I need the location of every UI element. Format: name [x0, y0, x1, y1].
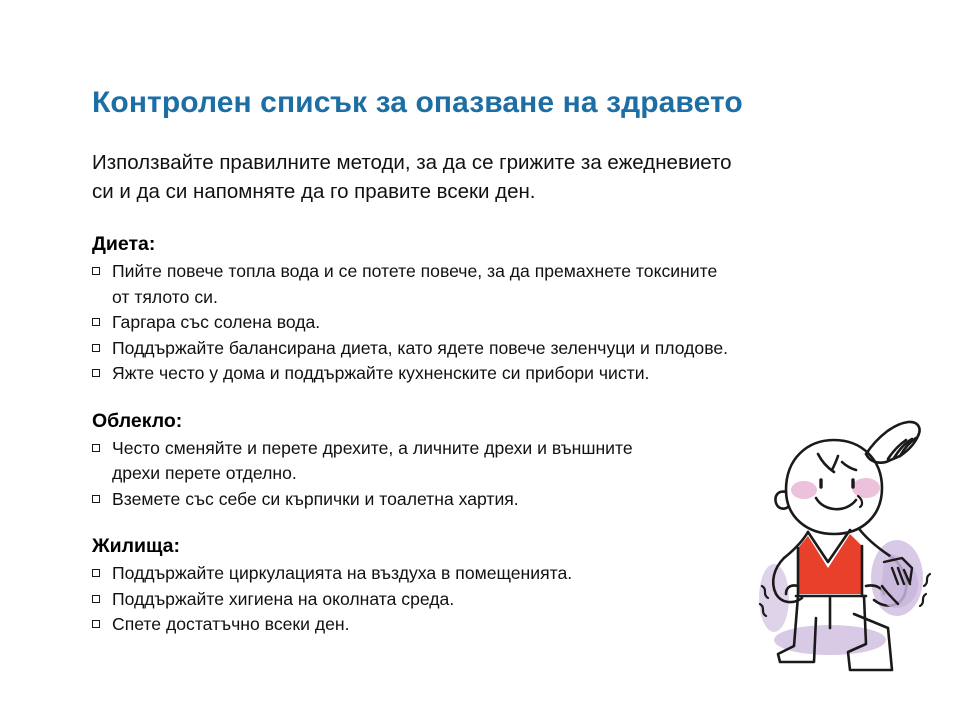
checkbox-square-icon[interactable] [92, 369, 100, 377]
checklist-item-text: Пийте повече топла вода и се потете пове… [112, 259, 882, 310]
item-line: от тялото си. [112, 285, 882, 311]
checkbox-square-icon[interactable] [92, 569, 100, 577]
checkbox-square-icon[interactable] [92, 595, 100, 603]
checklist-item-text: Поддържайте балансирана диета, като ядет… [112, 336, 882, 362]
item-line: Пийте повече топла вода и се потете пове… [112, 259, 882, 285]
checkbox-square-icon[interactable] [92, 495, 100, 503]
cartoon-child-illustration [742, 418, 960, 708]
item-line: Яжте често у дома и поддържайте кухненск… [112, 361, 882, 387]
checklist-item[interactable]: Гаргара със солена вода. [92, 310, 882, 336]
checklist-item[interactable]: Яжте често у дома и поддържайте кухненск… [92, 361, 882, 387]
intro-paragraph: Използвайте правилните методи, за да се … [92, 148, 882, 206]
section-heading: Диета: [92, 232, 882, 257]
checklist-item-text: Гаргара със солена вода. [112, 310, 882, 336]
page-title: Контролен списък за опазване на здравето [92, 86, 743, 120]
item-line: Поддържайте балансирана диета, като ядет… [112, 336, 882, 362]
checkbox-square-icon[interactable] [92, 318, 100, 326]
red-vest [798, 534, 862, 594]
checkbox-square-icon[interactable] [92, 620, 100, 628]
checkbox-square-icon[interactable] [92, 344, 100, 352]
checkbox-square-icon[interactable] [92, 444, 100, 452]
ponytail [866, 422, 920, 463]
checklist-item[interactable]: Поддържайте балансирана диета, като ядет… [92, 336, 882, 362]
checkbox-square-icon[interactable] [92, 267, 100, 275]
intro-line: си и да си напомняте да го правите всеки… [92, 177, 882, 206]
checklist-section-diet: Диета: Пийте повече топла вода и се поте… [92, 232, 882, 387]
checklist-item-text: Яжте често у дома и поддържайте кухненск… [112, 361, 882, 387]
item-line: Гаргара със солена вода. [112, 310, 882, 336]
intro-line: Използвайте правилните методи, за да се … [92, 148, 882, 177]
checklist-item[interactable]: Пийте повече топла вода и се потете пове… [92, 259, 882, 310]
slide-canvas: Контролен списък за опазване на здравето… [0, 0, 960, 720]
blush [791, 478, 880, 499]
